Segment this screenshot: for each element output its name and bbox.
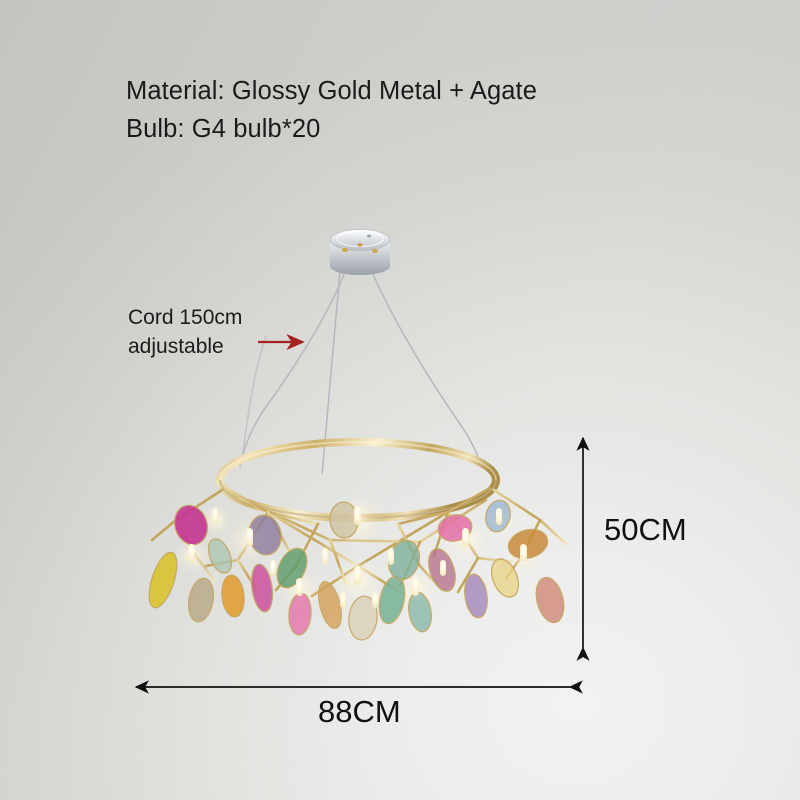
cord-adjustable-line: adjustable [128, 332, 242, 361]
bulb-spec-line: Bulb: G4 bulb*20 [126, 110, 537, 148]
cord-length-line: Cord 150cm [128, 303, 242, 332]
cord-annotation-text: Cord 150cm adjustable [128, 303, 242, 361]
spec-text-block: Material: Glossy Gold Metal + Agate Bulb… [126, 72, 537, 148]
material-spec-line: Material: Glossy Gold Metal + Agate [126, 72, 537, 110]
height-dimension-label: 50CM [604, 512, 687, 548]
product-photo-canvas: Material: Glossy Gold Metal + Agate Bulb… [0, 0, 800, 800]
width-dimension-label: 88CM [318, 694, 401, 730]
